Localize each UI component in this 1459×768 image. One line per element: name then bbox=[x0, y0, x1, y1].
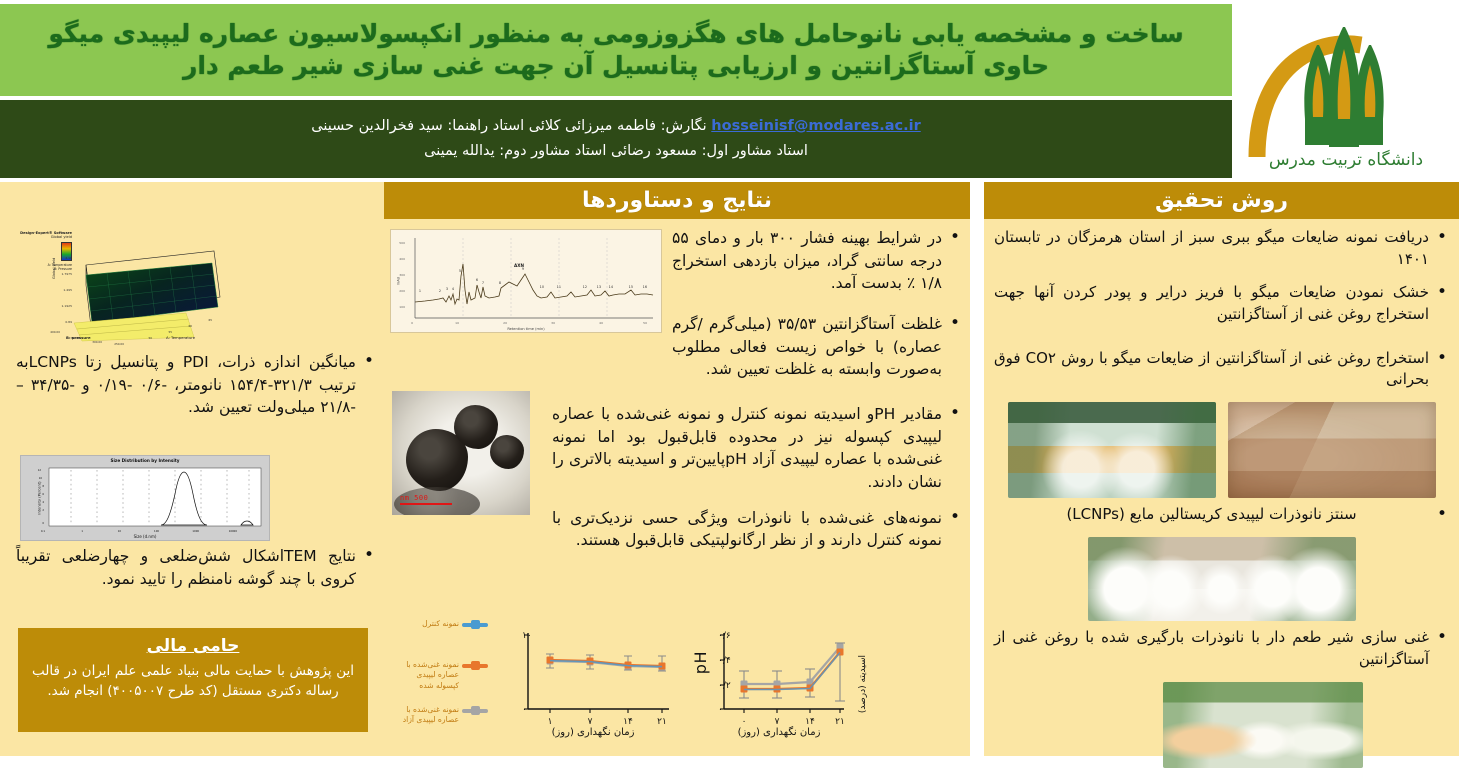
svg-text:6: 6 bbox=[476, 278, 478, 282]
svg-text:50: 50 bbox=[148, 336, 152, 340]
tem-particle bbox=[490, 435, 524, 469]
hplc-peak-label: AXN bbox=[514, 263, 524, 268]
svg-text:15: 15 bbox=[629, 285, 633, 289]
acidity-x-axis-title: زمان نگهداری (روز) bbox=[714, 727, 844, 738]
svg-text:1: 1 bbox=[419, 289, 421, 293]
results-bullet-list-top: در شرایط بهینه فشار ۳۰۰ بار و دمای ۵۵ در… bbox=[672, 227, 962, 394]
title-banner: ساخت و مشخصه یابی نانوحامل های هگزوزومی … bbox=[0, 4, 1232, 96]
surface-y-axis-label: Global yield bbox=[52, 258, 56, 279]
dls-plot-svg: 12108 6420 0.1110 100100010000 bbox=[21, 456, 269, 540]
svg-text:30: 30 bbox=[551, 321, 555, 325]
acidity-xtick-0: ۰ bbox=[742, 717, 747, 727]
university-logo: دانشگاه تربیت مدرس bbox=[1232, 0, 1459, 178]
svg-text:1.495: 1.495 bbox=[63, 288, 72, 292]
photo-lcnp-jars bbox=[1088, 537, 1356, 621]
author-line-1: hosseinisf@modares.ac.ir نگارش: فاطمه می… bbox=[311, 118, 920, 135]
method-photos-row-1 bbox=[984, 402, 1459, 498]
photo-shrimp-waste-bags bbox=[1228, 402, 1436, 498]
svg-text:100: 100 bbox=[399, 305, 405, 309]
svg-text:11: 11 bbox=[557, 285, 561, 289]
svg-text:20: 20 bbox=[503, 321, 507, 325]
charts-legend: نمونه کنترل نمونه غنی‌شده با عصاره لیپید… bbox=[396, 617, 488, 755]
list-item: میانگین اندازه ذرات، PDI و پتانسیل زتا L… bbox=[16, 351, 376, 419]
list-item: نمونه‌های غنی‌شده با نانوذرات ویژگی حسی … bbox=[552, 507, 962, 552]
svg-text:55: 55 bbox=[168, 330, 172, 334]
list-item: استخراج روغن غنی از آستاگزانتین از ضایعا… bbox=[994, 348, 1449, 392]
figure-surface-wrapper: Design-Expert® Software Global yield A: … bbox=[6, 223, 234, 345]
figure-3d-surface-plot: Design-Expert® Software Global yield A: … bbox=[6, 223, 234, 345]
acidity-xtick-3: ۲۱ bbox=[835, 717, 845, 727]
sponsor-box: حامی مالی این پژوهش با حمایت مالی بنیاد … bbox=[18, 628, 368, 732]
list-item: غلظت آستاگزانتین ۳۵/۵۳ (میلی‌گرم /گرم عص… bbox=[672, 313, 962, 381]
svg-text:2: 2 bbox=[439, 289, 441, 293]
figure-tem-micrograph: 500 nm bbox=[392, 391, 530, 515]
ph-xtick-1: ۷ bbox=[588, 717, 593, 727]
ph-ytick-1: ۱۰ bbox=[522, 631, 532, 641]
figure-dls-wrapper: Size Distribution by Intensity 12108 642… bbox=[20, 455, 270, 541]
poster-header: ساخت و مشخصه یابی نانوحامل های هگزوزومی … bbox=[0, 0, 1459, 178]
svg-text:1000: 1000 bbox=[192, 529, 199, 533]
legend-label-free: نمونه غنی‌شده با عصاره لیپیدی آزاد bbox=[396, 705, 459, 726]
acidity-ytick-0: ۰ bbox=[718, 705, 723, 715]
surface-x-axis-label-a: A: Temperature bbox=[166, 335, 195, 340]
method-photos-row-3 bbox=[984, 682, 1459, 768]
svg-text:7: 7 bbox=[482, 281, 484, 285]
results-bullet-list-bottom: مقادیر PHو اسیدیته نمونه کنترل و نمونه غ… bbox=[552, 403, 962, 565]
svg-text:14: 14 bbox=[609, 285, 613, 289]
ph-xtick-0: ۱ bbox=[548, 717, 553, 727]
svg-text:0: 0 bbox=[42, 521, 44, 525]
svg-text:10: 10 bbox=[455, 321, 459, 325]
svg-text:4: 4 bbox=[42, 500, 44, 504]
svg-text:0.89: 0.89 bbox=[65, 320, 72, 324]
gutter-top-left bbox=[0, 178, 384, 182]
author-line-1-text: نگارش: فاطمه میرزائی کلائی استاد راهنما:… bbox=[311, 118, 706, 134]
acidity-chart-svg: ۰/۶ ۰/۴ ۰/۲ ۰ ۰ ۷ ۱۴ ۲۱ bbox=[684, 623, 854, 743]
svg-text:10000: 10000 bbox=[229, 529, 238, 533]
tarbiat-modares-logo-icon: دانشگاه تربیت مدرس bbox=[1243, 7, 1448, 172]
hplc-x-axis-label: Retention time (min) bbox=[507, 327, 544, 331]
logo-caption-text: دانشگاه تربیت مدرس bbox=[1269, 149, 1423, 170]
ph-chart-svg: ۱۰ ۰ ۱ ۷ ۱۴ ۲۱ bbox=[484, 623, 679, 743]
acidity-ytick-3: ۰/۶ bbox=[718, 631, 731, 641]
acidity-xtick-2: ۱۴ bbox=[805, 717, 815, 727]
legend-item-free: نمونه غنی‌شده با عصاره لیپیدی آزاد bbox=[396, 705, 488, 726]
svg-text:3: 3 bbox=[446, 287, 448, 291]
svg-text:200: 200 bbox=[399, 289, 405, 293]
gutter-vertical bbox=[970, 178, 984, 756]
acidity-xtick-1: ۷ bbox=[775, 717, 780, 727]
list-item: نتایج TEMاشکال شش‌ضلعی و چهارضلعی تقریبا… bbox=[16, 545, 376, 590]
svg-text:4: 4 bbox=[452, 287, 454, 291]
svg-text:10: 10 bbox=[118, 529, 122, 533]
svg-text:10: 10 bbox=[39, 476, 43, 480]
dls-y-axis-label: Intensity (Percent) bbox=[38, 481, 42, 514]
photo-flavored-milk-bottles bbox=[1163, 682, 1363, 768]
tem-scale-bar-label: 500 nm bbox=[400, 494, 428, 502]
method-bullet-list-milk: غنی سازی شیر طعم دار با نانوذرات بارگیری… bbox=[984, 625, 1459, 671]
list-item: در شرایط بهینه فشار ۳۰۰ بار و دمای ۵۵ در… bbox=[672, 227, 962, 295]
figure-hplc-wrapper: 1 2 3 4 5 6 7 8 9 10 11 12 13 14 bbox=[390, 229, 662, 333]
svg-text:0.1: 0.1 bbox=[41, 529, 45, 533]
sponsor-title: حامی مالی bbox=[32, 636, 354, 656]
svg-text:250.00: 250.00 bbox=[114, 342, 124, 345]
svg-text:1.7975: 1.7975 bbox=[62, 272, 73, 276]
svg-text:60: 60 bbox=[188, 324, 192, 328]
surface-plot-svg: 2.101.7975 1.4951.1925 0.89 400.00350.00… bbox=[6, 223, 234, 345]
svg-text:6: 6 bbox=[42, 492, 44, 496]
surface-x-axis-label-b: B: pressure bbox=[66, 335, 91, 340]
left-bullet-list-1: میانگین اندازه ذرات، PDI و پتانسیل زتا L… bbox=[16, 351, 376, 432]
list-item: مقادیر PHو اسیدیته نمونه کنترل و نمونه غ… bbox=[552, 403, 962, 494]
list-item: غنی سازی شیر طعم دار با نانوذرات بارگیری… bbox=[994, 627, 1449, 671]
svg-text:1.1925: 1.1925 bbox=[62, 304, 73, 308]
legend-label-control: نمونه کنترل bbox=[396, 619, 459, 629]
method-photos-row-2 bbox=[984, 537, 1459, 621]
list-item: سنتز نانوذرات لیپیدی کریستالین مایع (LCN… bbox=[994, 504, 1449, 526]
chart-ph: ۱۰ ۰ ۱ ۷ ۱۴ ۲۱ bbox=[484, 623, 679, 743]
svg-text:12: 12 bbox=[38, 468, 42, 472]
figure-hplc-chromatogram: 1 2 3 4 5 6 7 8 9 10 11 12 13 14 bbox=[390, 229, 662, 333]
acidity-ytick-1: ۰/۲ bbox=[718, 681, 731, 691]
ph-xtick-3: ۲۱ bbox=[657, 717, 667, 727]
legend-item-encapsulated: نمونه غنی‌شده با عصاره لیپیدی کپسوله شده bbox=[396, 660, 488, 691]
page-title: ساخت و مشخصه یابی نانوحامل های هگزوزومی … bbox=[0, 18, 1232, 82]
author-line-2: استاد مشاور اول: مسعود رضائی استاد مشاور… bbox=[424, 143, 808, 160]
svg-text:1: 1 bbox=[81, 529, 83, 533]
column-method: دریافت نمونه ضایعات میگو ببری سبز از است… bbox=[984, 223, 1459, 756]
svg-text:13: 13 bbox=[597, 285, 601, 289]
svg-text:100: 100 bbox=[154, 529, 159, 533]
acidity-ytick-2: ۰/۴ bbox=[718, 656, 731, 666]
svg-text:8: 8 bbox=[499, 281, 501, 285]
figure-dls-size-distribution: Size Distribution by Intensity 12108 642… bbox=[20, 455, 270, 541]
acidity-y-axis-title: اسیدیته (درصد) bbox=[858, 655, 868, 713]
svg-text:2.10: 2.10 bbox=[65, 256, 72, 260]
svg-text:2: 2 bbox=[42, 508, 44, 512]
svg-text:400: 400 bbox=[399, 257, 405, 261]
svg-text:12: 12 bbox=[583, 285, 587, 289]
list-item: خشک نمودن ضایعات میگو با فریز درایر و پو… bbox=[994, 282, 1449, 326]
svg-text:10: 10 bbox=[540, 285, 544, 289]
svg-text:40: 40 bbox=[599, 321, 603, 325]
svg-text:400.00: 400.00 bbox=[50, 330, 60, 334]
dls-x-axis-label: Size (d.nm) bbox=[21, 534, 269, 539]
section-heading-method: روش تحقیق bbox=[984, 182, 1459, 219]
ph-x-axis-title: زمان نگهداری (روز) bbox=[518, 727, 668, 738]
method-bullet-list-top: دریافت نمونه ضایعات میگو ببری سبز از است… bbox=[984, 223, 1459, 391]
poster-canvas: ساخت و مشخصه یابی نانوحامل های هگزوزومی … bbox=[0, 0, 1459, 756]
chart-acidity: ۰/۶ ۰/۴ ۰/۲ ۰ ۰ ۷ ۱۴ ۲۱ bbox=[684, 623, 854, 743]
author-banner: hosseinisf@modares.ac.ir نگارش: فاطمه می… bbox=[0, 100, 1232, 178]
method-bullet-list-lcnp: سنتز نانوذرات لیپیدی کریستالین مایع (LCN… bbox=[984, 502, 1459, 526]
bottom-charts-group: ۰/۶ ۰/۴ ۰/۲ ۰ ۰ ۷ ۱۴ ۲۱ bbox=[396, 615, 970, 756]
figure-tem-wrapper: 500 nm bbox=[392, 391, 530, 515]
ph-xtick-2: ۱۴ bbox=[623, 717, 633, 727]
supervisor-email-link[interactable]: hosseinisf@modares.ac.ir bbox=[711, 118, 920, 135]
svg-text:65: 65 bbox=[208, 318, 212, 322]
legend-item-control: نمونه کنترل bbox=[396, 619, 488, 629]
svg-text:500: 500 bbox=[399, 241, 405, 245]
hplc-plot-svg: 1 2 3 4 5 6 7 8 9 10 11 12 13 14 bbox=[391, 230, 661, 332]
hplc-y-axis-label: mAU bbox=[396, 277, 400, 286]
svg-text:300.00: 300.00 bbox=[92, 340, 102, 344]
ph-ytick-0: ۰ bbox=[522, 705, 527, 715]
legend-swatch-free-icon bbox=[462, 709, 488, 713]
list-item: دریافت نمونه ضایعات میگو ببری سبز از است… bbox=[994, 227, 1449, 271]
svg-text:8: 8 bbox=[42, 484, 44, 488]
svg-text:5: 5 bbox=[459, 269, 461, 273]
svg-text:0: 0 bbox=[411, 321, 413, 325]
legend-label-encapsulated: نمونه غنی‌شده با عصاره لیپیدی کپسوله شده bbox=[396, 660, 459, 691]
tem-scale-bar bbox=[400, 503, 452, 505]
ph-y-axis-title: pH bbox=[691, 651, 710, 674]
left-bullet-list-2: نتایج TEMاشکال شش‌ضلعی و چهارضلعی تقریبا… bbox=[16, 545, 376, 603]
svg-text:16: 16 bbox=[643, 285, 647, 289]
legend-swatch-encapsulated-icon bbox=[462, 664, 488, 668]
legend-swatch-control-icon bbox=[462, 623, 488, 627]
sponsor-body: این پژوهش با حمایت مالی بنیاد علمی علم ا… bbox=[32, 661, 354, 702]
svg-text:50: 50 bbox=[643, 321, 647, 325]
section-heading-results: نتایج و دستاوردها bbox=[384, 182, 970, 219]
photo-extraction-jars bbox=[1008, 402, 1216, 498]
